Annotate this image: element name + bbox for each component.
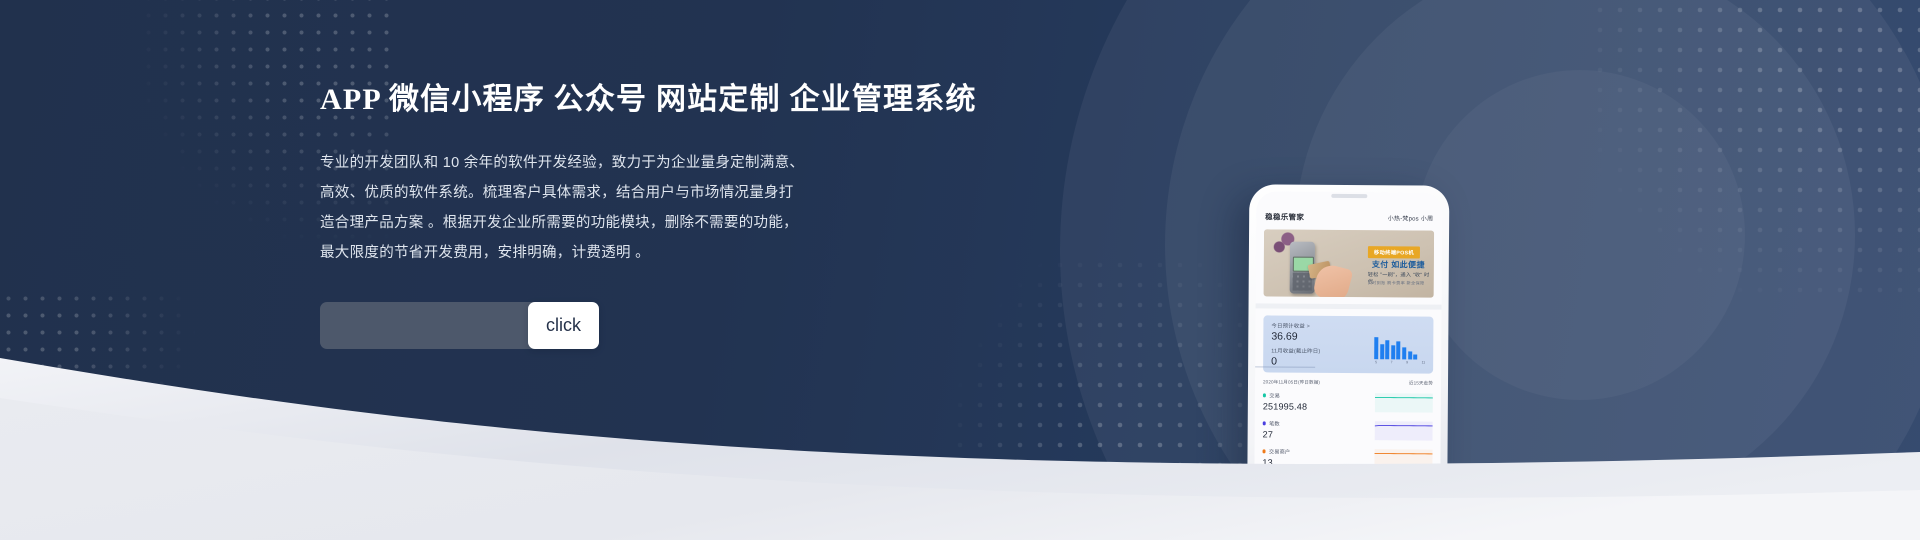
stat-sparkline — [1375, 391, 1433, 413]
stat-sparkline — [1374, 447, 1432, 469]
decorative-ring-outer — [1060, 0, 1920, 540]
description-line: 造合理产品方案 。根据开发企业所需要的功能模块，删除不需要的功能， — [320, 208, 940, 238]
income-bar-chart: 57911 — [1374, 337, 1426, 365]
bar-chart-axis-labels: 57911 — [1374, 360, 1426, 364]
stat-row[interactable]: 笔数27 — [1263, 418, 1433, 441]
promo-footnote: 实时到账 刷卡费率 新全保障 — [1368, 280, 1425, 286]
app-user-name: 小热-梵pos 小周 — [1388, 213, 1433, 222]
stat-value: 13 — [1262, 457, 1290, 467]
phone-speaker-notch — [1331, 194, 1367, 198]
stat-color-dot-icon — [1263, 422, 1266, 425]
hero-description: 专业的开发团队和 10 余年的软件开发经验，致力于为企业量身定制满意、 高效、优… — [320, 148, 940, 268]
stats-section: 2020年11月05日(昨日数据) 近15天走势 交易251995.48笔数27… — [1262, 379, 1433, 469]
decorative-ring-inner — [1415, 70, 1745, 400]
stats-date-label: 2020年11月05日(昨日数据) — [1263, 379, 1320, 385]
chart-baseline — [1254, 366, 1316, 368]
income-summary-card[interactable]: 今日预计收益 > 36.69 11月收益(截止昨日) 0 57911 — [1263, 315, 1433, 373]
bar — [1397, 341, 1401, 359]
stat-value: 251995.48 — [1263, 401, 1307, 411]
app-promo-banner[interactable]: 移动终端POS机 支付 如此便捷 轻松 "一刷"，通入 "收" 时代 实时到账 … — [1264, 229, 1434, 297]
description-line: 最大限度的节省开发费用，安排明确，计费透明 。 — [320, 238, 940, 268]
stat-row[interactable]: 交易251995.48 — [1263, 390, 1433, 413]
promo-headline: 支付 如此便捷 — [1372, 259, 1425, 270]
stat-color-dot-icon — [1263, 450, 1266, 453]
bar — [1413, 354, 1417, 360]
stats-rows: 交易251995.48笔数27交易商户13 — [1262, 390, 1433, 469]
bottom-wave-decoration — [0, 340, 1920, 540]
bar — [1402, 347, 1406, 359]
description-line: 专业的开发团队和 10 余年的软件开发经验，致力于为企业量身定制满意、 — [320, 148, 940, 178]
dot-pattern-mid-left — [0, 290, 200, 440]
stat-name: 交易商户 — [1263, 447, 1291, 455]
page-title: APP 微信小程序 公众号 网站定制 企业管理系统 — [320, 74, 1020, 118]
phone-mockup: 稳稳乐管家 小热-梵pos 小周 移动终端POS机 支付 如此便捷 轻松 "一刷… — [1247, 184, 1450, 540]
bar-chart-bars — [1374, 337, 1426, 359]
axis-tick-label: 7 — [1391, 360, 1393, 364]
search-bar[interactable]: click — [320, 302, 565, 349]
stat-sparkline — [1375, 419, 1433, 441]
axis-tick-label: 11 — [1422, 361, 1426, 365]
phone-screen: 稳稳乐管家 小热-梵pos 小周 移动终端POS机 支付 如此便捷 轻松 "一刷… — [1254, 191, 1443, 540]
bar — [1380, 344, 1384, 359]
stats-trend-label: 近15天走势 — [1409, 380, 1433, 386]
stat-color-dot-icon — [1263, 394, 1266, 397]
axis-tick-label: 9 — [1406, 360, 1408, 364]
section-divider — [1256, 303, 1442, 309]
stat-name: 笔数 — [1263, 419, 1280, 427]
bar — [1391, 346, 1395, 360]
bar — [1408, 351, 1412, 359]
app-topbar: 稳稳乐管家 小热-梵pos 小周 — [1256, 207, 1442, 230]
bar — [1385, 340, 1389, 359]
today-income-label: 今日预计收益 > — [1271, 321, 1425, 330]
description-line: 高效、优质的软件系统。梳理客户具体需求，结合用户与市场情况量身打 — [320, 178, 940, 208]
stats-header: 2020年11月05日(昨日数据) 近15天走势 — [1263, 379, 1433, 386]
bar — [1374, 337, 1378, 359]
stat-value: 27 — [1263, 429, 1280, 439]
axis-tick-label: 5 — [1375, 360, 1377, 364]
stat-row[interactable]: 交易商户13 — [1262, 446, 1432, 469]
hero-banner: APP 微信小程序 公众号 网站定制 企业管理系统 专业的开发团队和 10 余年… — [0, 0, 1920, 540]
dot-pattern-top-right — [1590, 0, 1920, 300]
hero-content: APP 微信小程序 公众号 网站定制 企业管理系统 专业的开发团队和 10 余年… — [320, 74, 1020, 349]
stat-name: 交易 — [1263, 391, 1307, 399]
promo-tag: 移动终端POS机 — [1368, 246, 1420, 258]
click-button[interactable]: click — [528, 302, 599, 349]
app-brand-name: 稳稳乐管家 — [1265, 211, 1304, 222]
